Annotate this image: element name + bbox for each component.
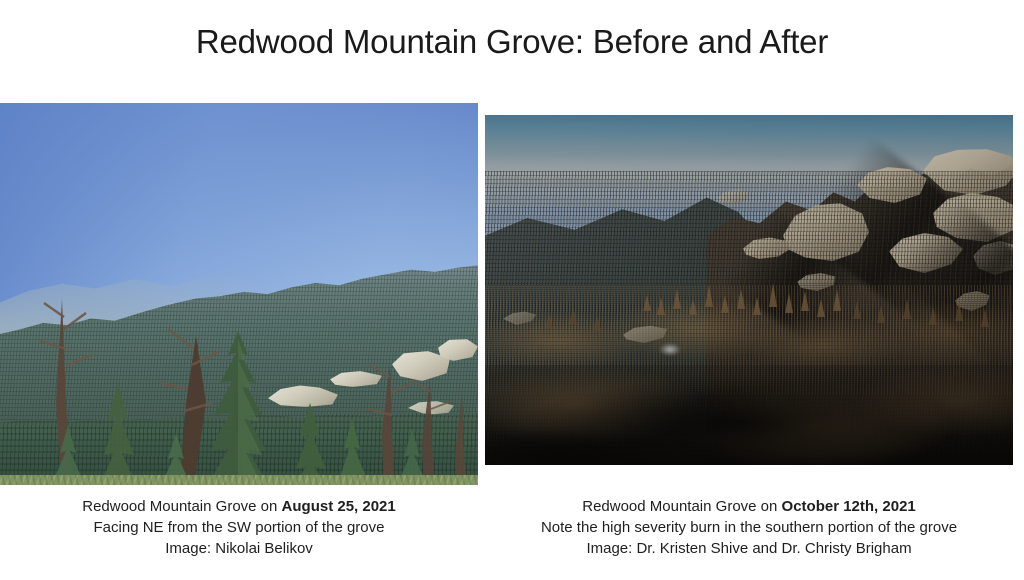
before-caption-line-2: Facing NE from the SW portion of the gro…: [0, 517, 478, 538]
after-caption-prefix: Redwood Mountain Grove on: [582, 498, 781, 515]
after-caption-line-1: Redwood Mountain Grove on October 12th, …: [485, 496, 1013, 517]
after-photo[interactable]: [485, 115, 1013, 465]
before-caption-date: August 25, 2021: [282, 498, 396, 515]
after-caption-line-3: Image: Dr. Kristen Shive and Dr. Christy…: [485, 538, 1013, 559]
page-title: Redwood Mountain Grove: Before and After: [0, 22, 1024, 62]
after-photo-caption: Redwood Mountain Grove on October 12th, …: [485, 496, 1013, 559]
before-photo-caption: Redwood Mountain Grove on August 25, 202…: [0, 496, 478, 559]
before-caption-line-3: Image: Nikolai Belikov: [0, 538, 478, 559]
before-conifer-group: [0, 103, 478, 485]
before-photo[interactable]: [0, 103, 478, 485]
after-caption-line-2: Note the high severity burn in the south…: [485, 517, 1013, 538]
before-foreground-canopy-texture: [0, 475, 478, 485]
before-caption-line-1: Redwood Mountain Grove on August 25, 202…: [0, 496, 478, 517]
after-caption-date: October 12th, 2021: [782, 498, 916, 515]
slide-canvas: Redwood Mountain Grove: Before and After: [0, 0, 1024, 580]
before-caption-prefix: Redwood Mountain Grove on: [82, 498, 281, 515]
after-color-grade-layer: [485, 115, 1013, 465]
